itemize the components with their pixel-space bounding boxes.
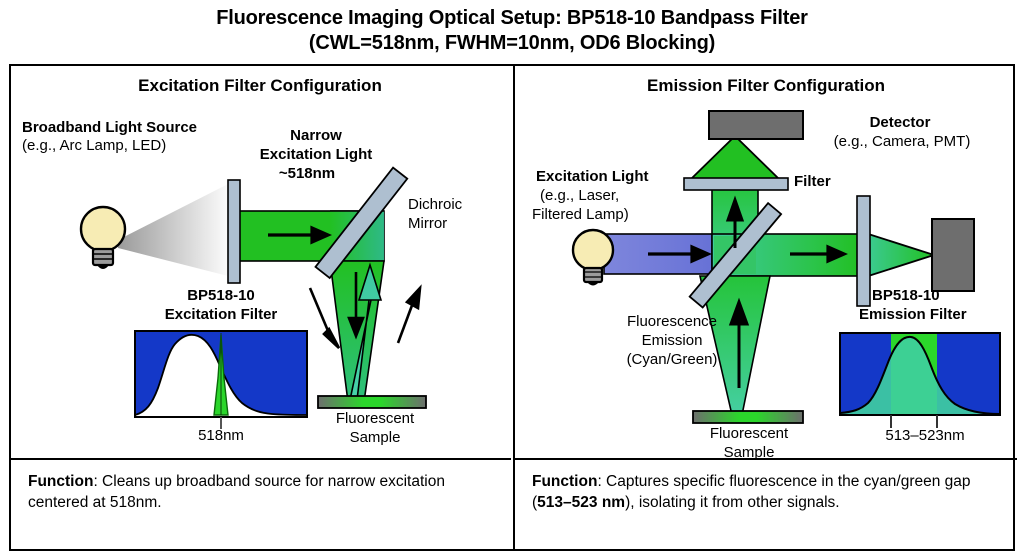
label-sample-right-line1: Fluorescent bbox=[694, 425, 804, 442]
title-line-2: (CWL=518nm, FWHM=10nm, OD6 Blocking) bbox=[0, 31, 1024, 56]
page-title: Fluorescence Imaging Optical Setup: BP51… bbox=[0, 6, 1024, 56]
label-dichroic-mirror-line1: Dichroic bbox=[408, 196, 498, 213]
label-emission-filter-line1: BP518-10 bbox=[872, 287, 1012, 304]
label-narrow-beam-line3: ~518nm bbox=[246, 165, 368, 182]
label-filter-callout: Filter bbox=[794, 173, 866, 190]
label-fluorescence-emission-line2: Emission bbox=[598, 332, 746, 349]
left-function-divider bbox=[9, 458, 511, 460]
label-fluorescent-sample-line1: Fluorescent bbox=[320, 410, 430, 427]
label-narrow-beam-line2: Excitation Light bbox=[238, 146, 394, 163]
left-function-text: Function: Cleans up broadband source for… bbox=[28, 471, 496, 513]
label-detector-line1: Detector bbox=[820, 114, 980, 131]
label-broadband-source-line2: (e.g., Arc Lamp, LED) bbox=[22, 137, 262, 154]
right-function-bold: 513–523 nm bbox=[537, 494, 625, 511]
label-fluorescence-emission-line3: (Cyan/Green) bbox=[598, 351, 746, 368]
label-emission-tick: 513–523nm bbox=[860, 427, 990, 444]
right-function-prefix: Function bbox=[532, 473, 597, 490]
label-sample-right-line2: Sample bbox=[694, 444, 804, 461]
label-excitation-filter-line1: BP518-10 bbox=[139, 287, 303, 304]
label-excitation-light-line3: Filtered Lamp) bbox=[532, 206, 714, 223]
label-broadband-source-line1: Broadband Light Source bbox=[22, 119, 262, 136]
left-panel-heading: Excitation Filter Configuration bbox=[9, 76, 511, 96]
label-fluorescent-sample-line2: Sample bbox=[320, 429, 430, 446]
panel-divider bbox=[513, 64, 515, 551]
diagram-root: Fluorescence Imaging Optical Setup: BP51… bbox=[0, 0, 1024, 559]
right-function-body-b: ), isolating it from other signals. bbox=[625, 494, 840, 511]
label-fluorescence-emission-line1: Fluorescence bbox=[598, 313, 746, 330]
label-dichroic-mirror-line2: Mirror bbox=[408, 215, 498, 232]
label-narrow-beam-line1: Narrow bbox=[248, 127, 384, 144]
right-panel-heading: Emission Filter Configuration bbox=[515, 76, 1017, 96]
label-detector-line2: (e.g., Camera, PMT) bbox=[808, 133, 996, 150]
label-emission-filter-line2: Emission Filter bbox=[859, 306, 1019, 323]
label-excitation-light-line1: Excitation Light bbox=[536, 168, 708, 185]
label-excitation-filter-line2: Excitation Filter bbox=[131, 306, 311, 323]
label-excitation-light-line2: (e.g., Laser, bbox=[540, 187, 712, 204]
title-line-1: Fluorescence Imaging Optical Setup: BP51… bbox=[216, 7, 808, 29]
left-function-prefix: Function bbox=[28, 473, 93, 490]
right-function-text: Function: Captures specific fluorescence… bbox=[532, 471, 1002, 513]
label-excitation-tick: 518nm bbox=[166, 427, 276, 444]
